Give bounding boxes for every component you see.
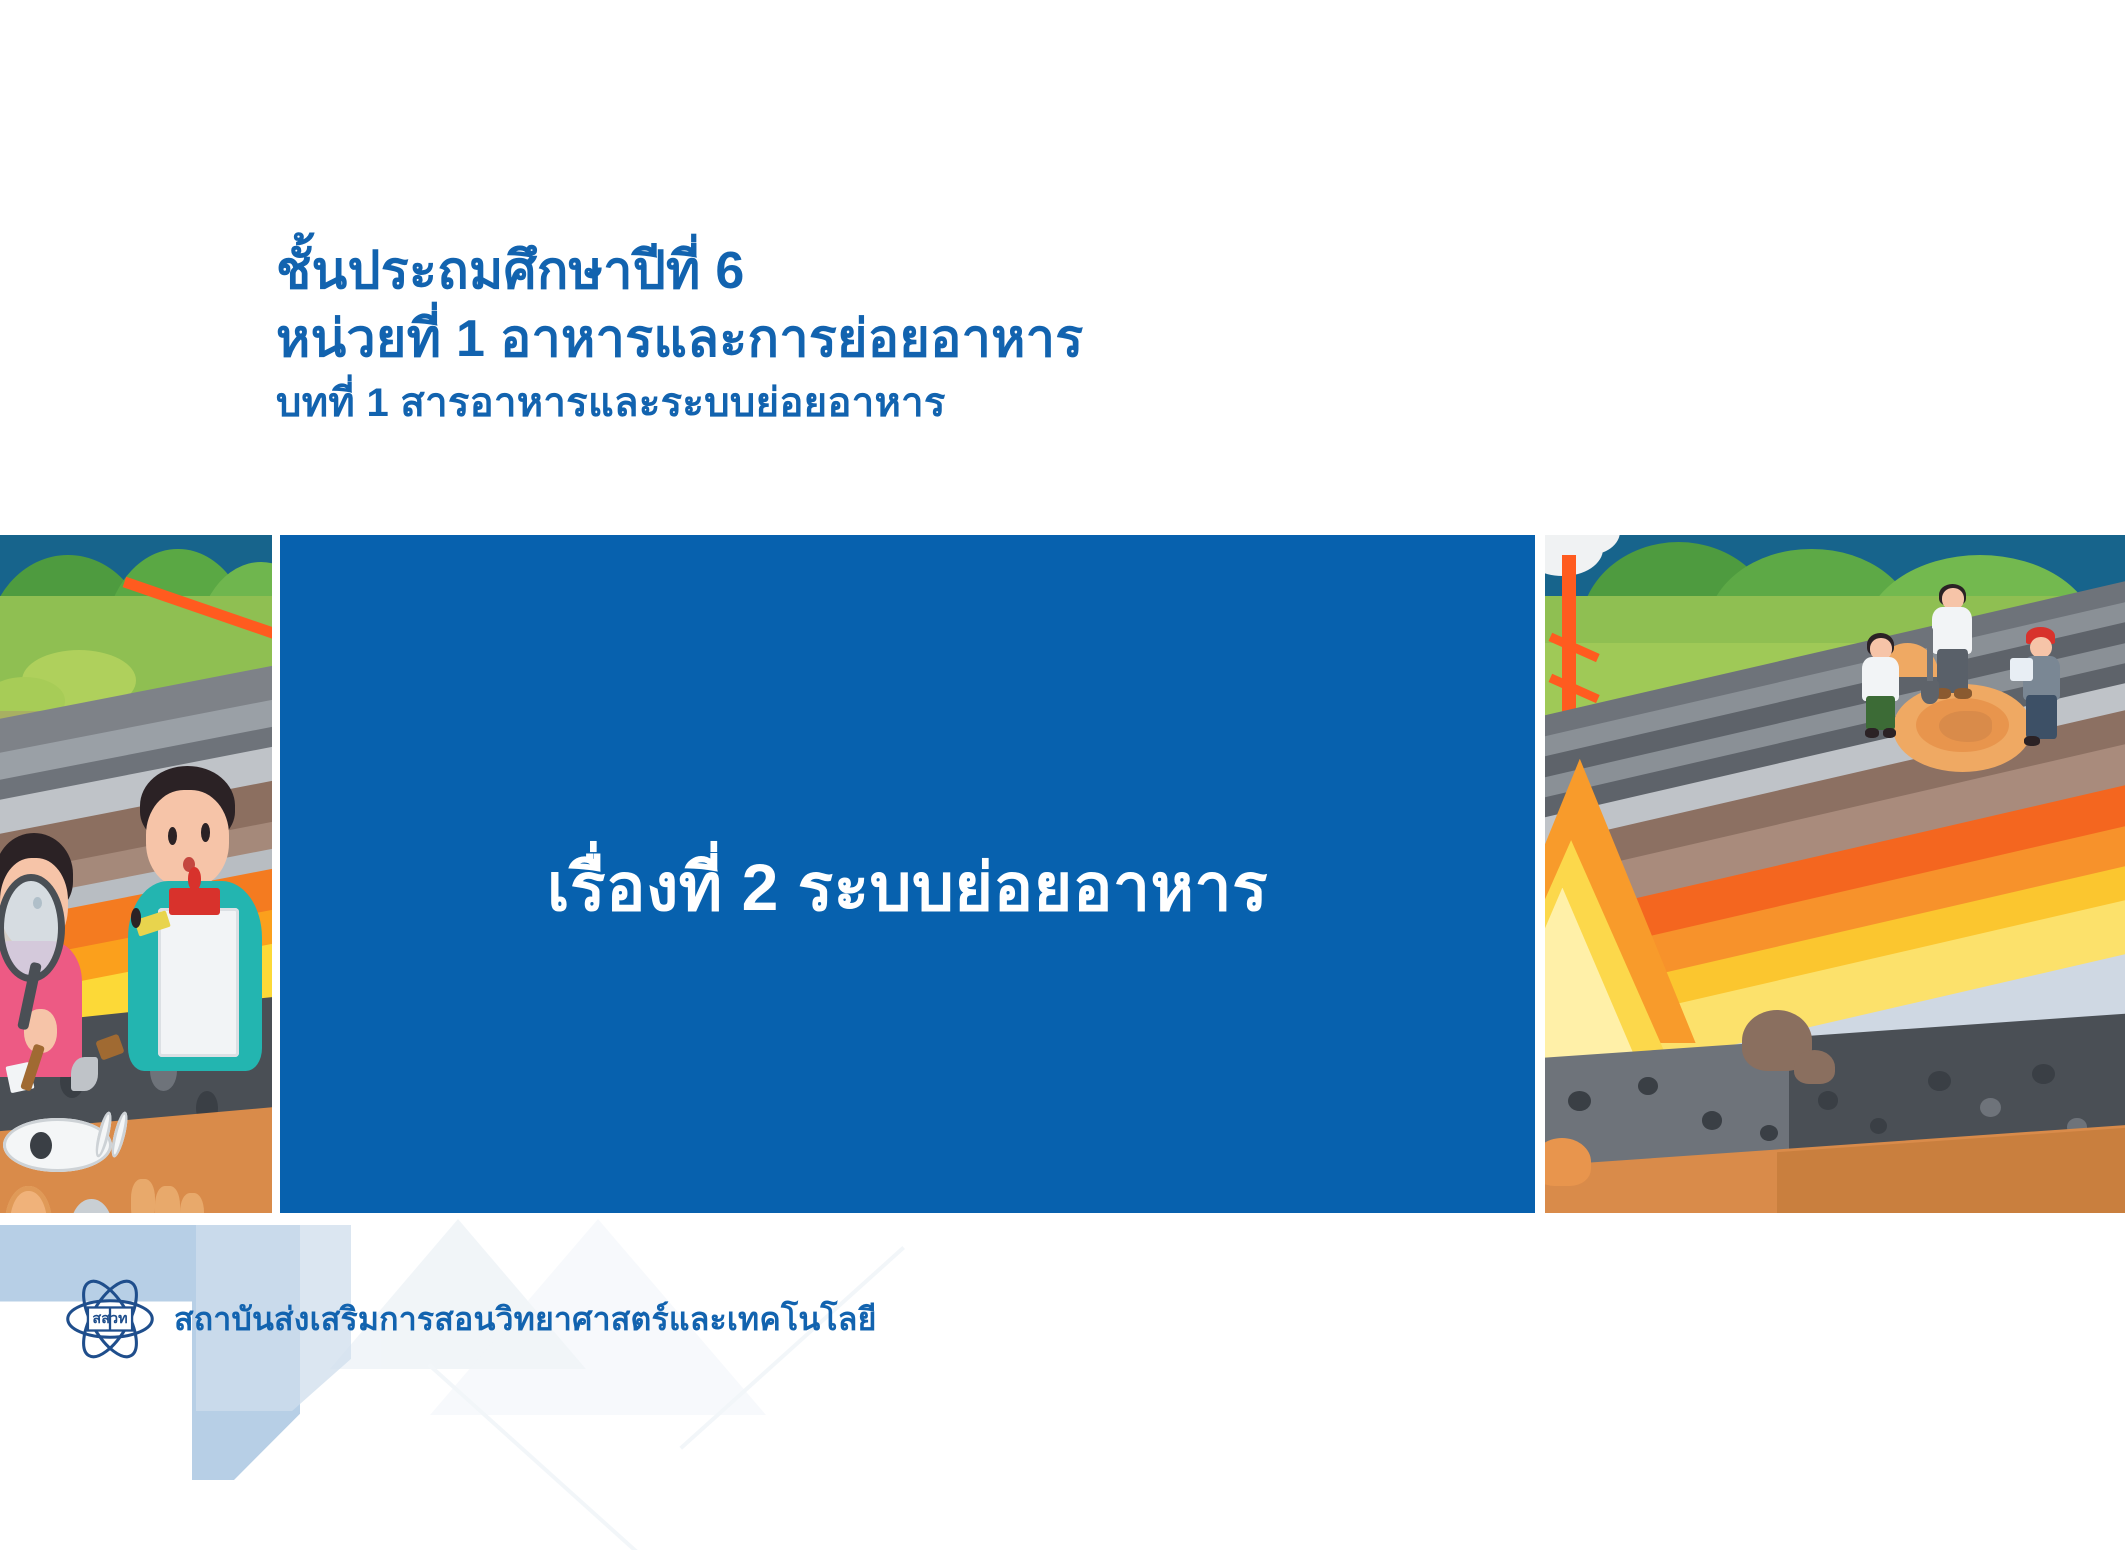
shorts <box>1866 696 1895 730</box>
ipst-atom-logo-icon: สสวท <box>62 1271 158 1367</box>
slide-root: ชั้นประถมศึกษาปีที่ 6 หน่วยที่ 1 อาหารแล… <box>0 0 2125 1550</box>
fossil-eye-socket <box>30 1132 52 1159</box>
shoe <box>2024 736 2040 746</box>
pants <box>1937 649 1968 693</box>
pants <box>2026 695 2056 739</box>
pebble <box>1638 1077 1658 1095</box>
notebook <box>2010 658 2033 681</box>
footer-organization-name: สถาบันส่งเสริมการสอนวิทยาศาสตร์และเทคโนโ… <box>174 1294 877 1345</box>
pebble <box>1980 1098 2001 1117</box>
boulder <box>1794 1050 1835 1084</box>
hammer-head <box>71 1057 98 1091</box>
header-unit-line: หน่วยที่ 1 อาหารและการย่อยอาหาร <box>276 306 1476 374</box>
shoe <box>1954 688 1971 699</box>
logo-acronym: สสวท <box>92 1311 127 1327</box>
shirt <box>1862 657 1899 701</box>
shoe <box>1883 728 1897 738</box>
shirt <box>1932 607 1971 654</box>
shovel-blade <box>1921 681 1940 704</box>
left-illustration <box>0 535 272 1213</box>
vertebra-fossil <box>131 1179 155 1213</box>
pebble <box>1818 1091 1839 1110</box>
header-chapter-line: บทที่ 1 สารอาหารและระบบย่อยอาหาร <box>276 377 1476 429</box>
slide-footer: สสวท สถาบันส่งเสริมการสอนวิทยาศาสตร์และเ… <box>0 1213 2125 1550</box>
pebble <box>1928 1071 1951 1091</box>
title-panel: เรื่องที่ 2 ระบบย่อยอาหาร <box>280 535 1535 1213</box>
pebble <box>1760 1125 1779 1141</box>
clipboard-knob <box>188 867 202 891</box>
left-scene <box>0 535 272 1213</box>
footer-brand: สสวท สถาบันส่งเสริมการสอนวิทยาศาสตร์และเ… <box>62 1271 877 1367</box>
vertebra-fossil <box>155 1186 179 1213</box>
slide-header: ชั้นประถมศึกษาปีที่ 6 หน่วยที่ 1 อาหารแล… <box>276 238 1476 429</box>
slide-main-title: เรื่องที่ 2 ระบบย่อยอาหาร <box>547 848 1268 927</box>
clipboard-clip <box>169 888 221 915</box>
shovel-handle <box>1927 627 1933 688</box>
eye <box>168 827 177 845</box>
right-illustration <box>1545 535 2125 1213</box>
header-grade-line: ชั้นประถมศึกษาปีที่ 6 <box>276 238 1476 306</box>
right-scene <box>1545 535 2125 1213</box>
shoe <box>1865 728 1879 738</box>
clipboard <box>158 908 240 1057</box>
buried-fossil <box>1939 711 1991 742</box>
